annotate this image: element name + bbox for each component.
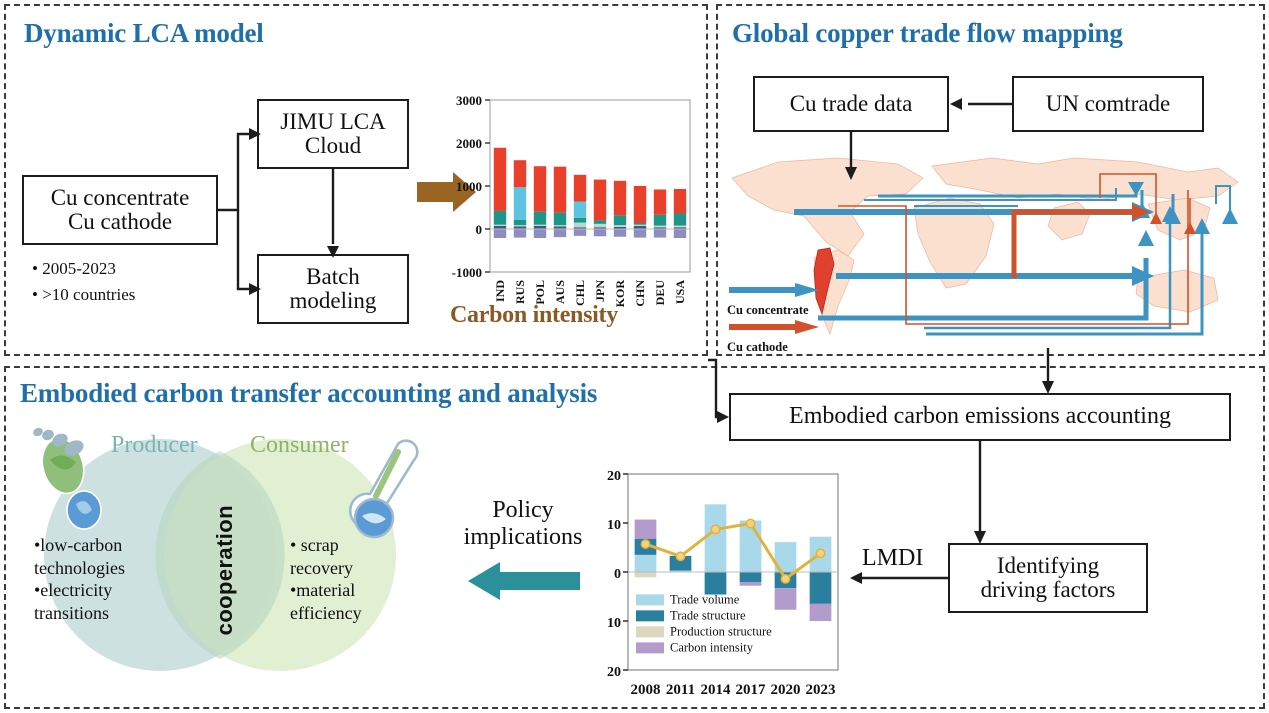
lmdi-bar-segment	[740, 572, 762, 582]
box-cu-input: Cu concentrate Cu cathode	[22, 175, 218, 245]
ci-bar-segment	[574, 229, 586, 236]
map-legend-cu-cathode-label: Cu cathode	[727, 340, 827, 355]
lmdi-bar-segment	[635, 555, 657, 572]
ci-bar-segment	[534, 229, 546, 238]
ci-bar-segment	[674, 189, 686, 214]
lmdi-legend-swatch	[636, 642, 664, 653]
lmdi-xtick: 2014	[701, 682, 732, 698]
box-jimu-lca-cloud: JIMU LCA Cloud	[257, 99, 409, 169]
ci-bar-segment	[514, 220, 526, 225]
ci-bar-segment	[654, 226, 666, 228]
chart-lmdi-decomposition: 201001020200820112014201720202023Trade v…	[594, 464, 846, 704]
venn-consumer-item-2: •material	[290, 579, 440, 602]
lca-bullet-years: • 2005-2023	[32, 256, 135, 282]
box-identifying-driving-factors: Identifying driving factors	[948, 543, 1148, 613]
lmdi-bar-segment	[635, 520, 657, 539]
ci-bar-segment	[554, 167, 566, 213]
panel-title-embodied: Embodied carbon transfer accounting and …	[20, 378, 597, 409]
ci-xtick: POL	[533, 280, 547, 305]
lmdi-net-marker	[816, 549, 824, 557]
chart-carbon-intensity: -10000100020003000INDRUSPOLAUSCHLJPNKORC…	[444, 92, 696, 330]
ci-bar-segment	[634, 225, 646, 226]
lmdi-xtick: 2017	[736, 682, 767, 698]
box-driving-line2: driving factors	[981, 578, 1116, 602]
ci-bar-segment	[654, 189, 666, 214]
ci-bar-segment	[494, 148, 506, 211]
ci-xtick: CHN	[633, 280, 647, 307]
ci-xtick: DEU	[653, 280, 667, 306]
lmdi-bar-segment	[705, 504, 727, 572]
lmdi-xtick: 2008	[631, 682, 661, 698]
panel-title-lca: Dynamic LCA model	[24, 18, 264, 49]
box-jimu-line2: Cloud	[280, 134, 385, 158]
venn-producer-item-3: transitions	[34, 602, 194, 625]
box-cu-line1: Cu concentrate	[51, 186, 190, 210]
ci-bar-segment	[674, 226, 686, 228]
lmdi-legend-swatch	[636, 594, 664, 605]
lca-bullet-list: • 2005-2023 • >10 countries	[32, 256, 135, 307]
ci-bar-segment	[554, 225, 566, 226]
venn-center-cooperation: cooperation	[207, 490, 243, 650]
box-jimu-line1: JIMU LCA	[280, 110, 385, 134]
ci-bar-segment	[594, 220, 606, 223]
map-legend-cu-cathode: Cu cathode	[727, 318, 827, 355]
lmdi-bar-segment	[810, 604, 832, 621]
ci-bar-segment	[554, 229, 566, 237]
lmdi-legend-label: Production structure	[670, 624, 772, 638]
lmdi-ytick: 10	[607, 518, 621, 533]
ci-bar-segment	[574, 223, 586, 228]
venn-consumer-item-0: • scrap	[290, 534, 440, 557]
ci-bar-segment	[494, 229, 506, 238]
ci-xtick: IND	[493, 280, 507, 302]
ci-bar-segment	[554, 213, 566, 225]
ci-xtick: RUS	[513, 280, 527, 304]
lmdi-net-marker	[676, 552, 684, 560]
lmdi-label: LMDI	[862, 545, 923, 572]
lmdi-xtick: 2020	[771, 682, 801, 698]
ci-bar-segment	[494, 225, 506, 226]
ci-bar-segment	[594, 229, 606, 236]
arrow-orange-icon	[727, 318, 827, 336]
lmdi-net-marker	[711, 525, 719, 533]
ci-bar-segment	[574, 218, 586, 223]
lmdi-legend-label: Trade structure	[670, 608, 746, 622]
ci-bar-segment	[574, 201, 586, 217]
box-batch-line1: Batch	[290, 265, 377, 289]
venn-producer-item-1: technologies	[34, 557, 194, 580]
ci-bar-segment	[674, 229, 686, 238]
lmdi-svg: 201001020200820112014201720202023Trade v…	[594, 464, 846, 704]
ci-bar-segment	[614, 225, 626, 227]
venn-consumer-item-3: efficiency	[290, 602, 440, 625]
lmdi-xtick: 2023	[806, 682, 836, 698]
policy-line1: Policy	[443, 497, 603, 524]
ci-ytick: 3000	[456, 93, 482, 108]
ci-bar-segment	[674, 214, 686, 226]
venn-caption-producer: Producer	[111, 432, 198, 459]
ci-bar-segment	[534, 212, 546, 225]
ci-bar-segment	[594, 180, 606, 221]
ci-xtick: USA	[673, 280, 687, 304]
ci-bar-segment	[614, 229, 626, 237]
ci-bar-segment	[654, 215, 666, 226]
lmdi-net-marker	[781, 575, 789, 583]
ci-bar-segment	[574, 175, 586, 202]
ci-xtick: AUS	[553, 280, 567, 304]
lmdi-legend-label: Carbon intensity	[670, 640, 754, 654]
lmdi-xtick: 2011	[666, 682, 695, 698]
panel-title-trade: Global copper trade flow mapping	[732, 18, 1123, 49]
lmdi-net-marker	[746, 519, 754, 527]
ci-ytick: -1000	[452, 265, 482, 280]
venn-consumer-item-1: recovery	[290, 557, 440, 580]
map-legend-cu-concentrate: Cu concentrate	[727, 281, 827, 318]
lmdi-bar-segment	[810, 572, 832, 604]
map-legend-cu-concentrate-label: Cu concentrate	[727, 303, 827, 318]
ci-bar-segment	[534, 225, 546, 226]
venn-consumer-items: • scrap recovery •material efficiency	[290, 534, 440, 625]
ci-bar-segment	[594, 224, 606, 227]
lmdi-ytick: 20	[607, 469, 621, 484]
ci-bar-segment	[634, 223, 646, 225]
lmdi-bar-segment	[740, 582, 762, 585]
box-cu-line2: Cu cathode	[51, 210, 190, 234]
box-batch-modeling: Batch modeling	[257, 254, 409, 324]
lmdi-ytick: 0	[614, 567, 621, 582]
lmdi-net-marker	[641, 540, 649, 548]
ci-bar-segment	[494, 211, 506, 225]
chart-carbon-intensity-caption: Carbon intensity	[450, 302, 618, 329]
panel-dynamic-lca-model: Dynamic LCA model Cu concentrate Cu cath…	[4, 4, 708, 356]
box-cu-trade-data: Cu trade data	[753, 76, 949, 132]
ci-bar-segment	[514, 160, 526, 187]
venn-center-cooperation-label: cooperation	[212, 505, 238, 635]
ci-bar-segment	[514, 225, 526, 226]
ci-bar-segment	[614, 215, 626, 225]
box-batch-line2: modeling	[290, 289, 377, 313]
venn-producer-items: •low-carbon technologies •electricity tr…	[34, 534, 194, 625]
lca-bullet-countries: • >10 countries	[32, 282, 135, 308]
lmdi-ytick: 10	[607, 616, 621, 631]
box-driving-line1: Identifying	[981, 554, 1116, 578]
venn-caption-consumer: Consumer	[250, 432, 349, 459]
box-embodied-carbon-emissions-accounting: Embodied carbon emissions accounting	[729, 393, 1231, 441]
lmdi-legend-swatch	[636, 610, 664, 621]
policy-line2: implications	[443, 524, 603, 551]
venn-producer-item-0: •low-carbon	[34, 534, 194, 557]
ci-bar-segment	[634, 186, 646, 223]
lmdi-bar-segment	[775, 588, 797, 610]
ci-ytick: 2000	[456, 136, 482, 151]
lmdi-legend-label: Trade volume	[670, 592, 740, 606]
ci-xtick: JPN	[593, 280, 607, 302]
policy-implications-label: Policy implications	[443, 497, 603, 551]
ci-bar-segment	[614, 181, 626, 215]
ci-bar-segment	[514, 187, 526, 220]
box-un-comtrade: UN comtrade	[1012, 76, 1204, 132]
ci-bar-segment	[534, 166, 546, 212]
ci-ytick: 1000	[456, 179, 482, 194]
carbon-intensity-svg: -10000100020003000INDRUSPOLAUSCHLJPNKORC…	[444, 92, 696, 330]
ci-ytick: 0	[476, 222, 483, 237]
ci-bar-segment	[514, 229, 526, 238]
lmdi-bar-segment	[635, 572, 657, 577]
arrow-blue-icon	[727, 281, 827, 299]
venn-producer-item-2: •electricity	[34, 579, 194, 602]
ci-bar-segment	[634, 229, 646, 238]
lmdi-bar-segment	[705, 572, 727, 595]
lmdi-legend-swatch	[636, 626, 664, 637]
ci-bar-segment	[654, 229, 666, 238]
lmdi-ytick: 20	[607, 665, 621, 680]
